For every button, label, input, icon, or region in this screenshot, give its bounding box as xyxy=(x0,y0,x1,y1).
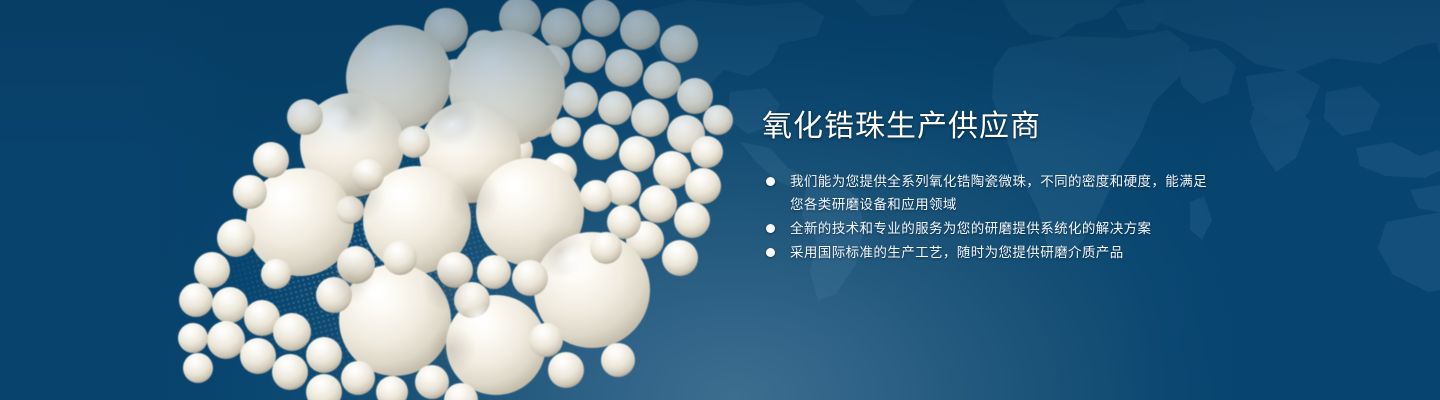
bullet-dot-icon xyxy=(766,248,775,257)
list-item: 采用国际标准的生产工艺，随时为您提供研磨介质产品 xyxy=(762,241,1212,264)
list-item: 我们能为您提供全系列氧化锆陶瓷微珠，不同的密度和硬度，能满足您各类研磨设备和应用… xyxy=(762,170,1212,216)
list-item-label: 我们能为您提供全系列氧化锆陶瓷微珠，不同的密度和硬度，能满足您各类研磨设备和应用… xyxy=(790,174,1207,212)
page-title: 氧化锆珠生产供应商 xyxy=(762,108,1212,146)
background-left-panel xyxy=(0,0,250,400)
list-item: 全新的技术和专业的服务为您的研磨提供系统化的解决方案 xyxy=(762,217,1212,240)
bullet-dot-icon xyxy=(766,177,775,186)
hero-banner: 氧化锆珠生产供应商 我们能为您提供全系列氧化锆陶瓷微珠，不同的密度和硬度，能满足… xyxy=(0,0,1440,400)
list-item-label: 全新的技术和专业的服务为您的研磨提供系统化的解决方案 xyxy=(790,221,1151,236)
bullet-dot-icon xyxy=(766,224,775,233)
list-item-label: 采用国际标准的生产工艺，随时为您提供研磨介质产品 xyxy=(790,245,1124,260)
feature-bullet-list: 我们能为您提供全系列氧化锆陶瓷微珠，不同的密度和硬度，能满足您各类研磨设备和应用… xyxy=(762,170,1212,264)
banner-copy: 氧化锆珠生产供应商 我们能为您提供全系列氧化锆陶瓷微珠，不同的密度和硬度，能满足… xyxy=(762,108,1212,265)
